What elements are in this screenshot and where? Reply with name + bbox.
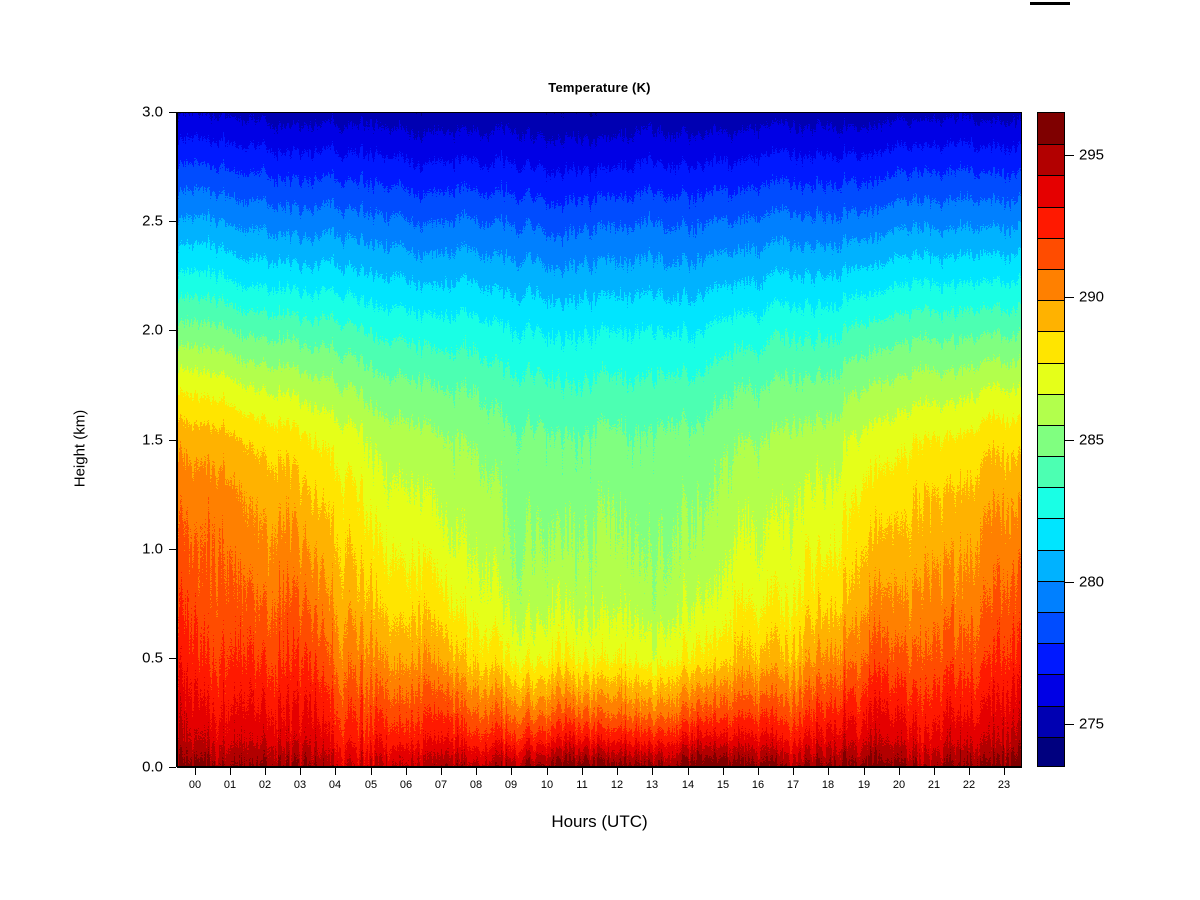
x-tick bbox=[758, 768, 759, 775]
x-tick-label: 12 bbox=[611, 779, 623, 791]
x-tick-label: 06 bbox=[400, 779, 412, 791]
y-tick bbox=[169, 767, 176, 768]
colorbar-band bbox=[1038, 363, 1064, 394]
x-tick bbox=[511, 768, 512, 775]
colorbar-tick-label: 275 bbox=[1079, 716, 1104, 733]
y-tick-label: 1.0 bbox=[119, 541, 163, 558]
colorbar-band bbox=[1038, 425, 1064, 456]
colorbar-tick-label: 285 bbox=[1079, 432, 1104, 449]
y-tick-label: 2.0 bbox=[119, 322, 163, 339]
x-tick-label: 08 bbox=[470, 779, 482, 791]
colorbar-tick bbox=[1065, 582, 1074, 583]
colorbar-tick-label: 295 bbox=[1079, 147, 1104, 164]
x-tick-label: 15 bbox=[717, 779, 729, 791]
colorbar-band bbox=[1038, 175, 1064, 206]
y-tick bbox=[169, 549, 176, 550]
colorbar bbox=[1037, 112, 1065, 767]
x-tick-label: 01 bbox=[224, 779, 236, 791]
x-tick bbox=[828, 768, 829, 775]
x-tick bbox=[195, 768, 196, 775]
colorbar-band bbox=[1038, 643, 1064, 674]
x-tick bbox=[617, 768, 618, 775]
x-tick bbox=[476, 768, 477, 775]
colorbar-band bbox=[1038, 394, 1064, 425]
x-tick-label: 11 bbox=[576, 779, 587, 791]
y-axis-title: Height (km) bbox=[72, 369, 89, 529]
colorbar-band bbox=[1038, 706, 1064, 737]
x-tick-label: 10 bbox=[541, 779, 553, 791]
x-tick bbox=[969, 768, 970, 775]
colorbar-band bbox=[1038, 238, 1064, 269]
colorbar-band bbox=[1038, 207, 1064, 238]
x-tick bbox=[582, 768, 583, 775]
x-tick bbox=[723, 768, 724, 775]
x-tick bbox=[688, 768, 689, 775]
colorbar-band bbox=[1038, 674, 1064, 705]
x-tick bbox=[335, 768, 336, 775]
x-axis-line bbox=[177, 767, 1022, 768]
y-axis-line bbox=[176, 112, 177, 767]
x-tick-label: 00 bbox=[189, 779, 201, 791]
x-tick-label: 21 bbox=[928, 779, 940, 791]
y-tick-label: 3.0 bbox=[119, 104, 163, 121]
x-tick-label: 09 bbox=[505, 779, 517, 791]
x-tick-label: 05 bbox=[365, 779, 377, 791]
colorbar-band bbox=[1038, 300, 1064, 331]
x-tick bbox=[864, 768, 865, 775]
x-tick-label: 04 bbox=[329, 779, 341, 791]
colorbar-tick bbox=[1065, 440, 1074, 441]
top-rule-artifact bbox=[1030, 2, 1070, 5]
y-tick bbox=[169, 440, 176, 441]
x-tick-label: 23 bbox=[998, 779, 1010, 791]
x-tick bbox=[230, 768, 231, 775]
colorbar-band bbox=[1038, 456, 1064, 487]
x-tick-label: 13 bbox=[646, 779, 658, 791]
x-tick bbox=[1004, 768, 1005, 775]
x-tick bbox=[265, 768, 266, 775]
x-tick-label: 20 bbox=[893, 779, 905, 791]
heatmap-canvas bbox=[178, 113, 1022, 767]
colorbar-band bbox=[1038, 144, 1064, 175]
colorbar-tick bbox=[1065, 724, 1074, 725]
x-tick bbox=[371, 768, 372, 775]
y-tick bbox=[169, 221, 176, 222]
x-tick-label: 19 bbox=[858, 779, 870, 791]
colorbar-band bbox=[1038, 550, 1064, 581]
colorbar-band bbox=[1038, 581, 1064, 612]
colorbar-band bbox=[1038, 331, 1064, 362]
x-axis-title: Hours (UTC) bbox=[177, 812, 1022, 832]
colorbar-tick bbox=[1065, 155, 1074, 156]
x-tick-label: 22 bbox=[963, 779, 975, 791]
colorbar-band bbox=[1038, 518, 1064, 549]
y-tick-label: 0.0 bbox=[119, 759, 163, 776]
y-tick bbox=[169, 658, 176, 659]
y-tick-label: 2.5 bbox=[119, 213, 163, 230]
page-title: Temperature (K) bbox=[177, 80, 1022, 95]
x-tick bbox=[406, 768, 407, 775]
x-tick-label: 16 bbox=[752, 779, 764, 791]
x-tick-label: 17 bbox=[787, 779, 799, 791]
colorbar-band bbox=[1038, 269, 1064, 300]
y-tick bbox=[169, 330, 176, 331]
heatmap-plot-area bbox=[177, 112, 1022, 767]
x-tick-label: 07 bbox=[435, 779, 447, 791]
x-tick bbox=[441, 768, 442, 775]
temperature-heatmap-figure: Temperature (K) 0.00.51.01.52.02.53.0000… bbox=[0, 0, 1200, 900]
x-tick bbox=[899, 768, 900, 775]
y-tick-label: 0.5 bbox=[119, 650, 163, 667]
colorbar-band bbox=[1038, 487, 1064, 518]
x-tick bbox=[547, 768, 548, 775]
x-tick bbox=[793, 768, 794, 775]
x-tick bbox=[934, 768, 935, 775]
x-tick-label: 03 bbox=[294, 779, 306, 791]
y-tick bbox=[169, 112, 176, 113]
x-tick-label: 02 bbox=[259, 779, 271, 791]
x-tick bbox=[300, 768, 301, 775]
colorbar-tick-label: 290 bbox=[1079, 289, 1104, 306]
colorbar-band bbox=[1038, 113, 1064, 144]
colorbar-tick-label: 280 bbox=[1079, 574, 1104, 591]
y-tick-label: 1.5 bbox=[119, 432, 163, 449]
x-tick-label: 18 bbox=[822, 779, 834, 791]
colorbar-band bbox=[1038, 737, 1064, 767]
colorbar-tick bbox=[1065, 297, 1074, 298]
x-tick-label: 14 bbox=[682, 779, 694, 791]
colorbar-band bbox=[1038, 612, 1064, 643]
x-tick bbox=[652, 768, 653, 775]
